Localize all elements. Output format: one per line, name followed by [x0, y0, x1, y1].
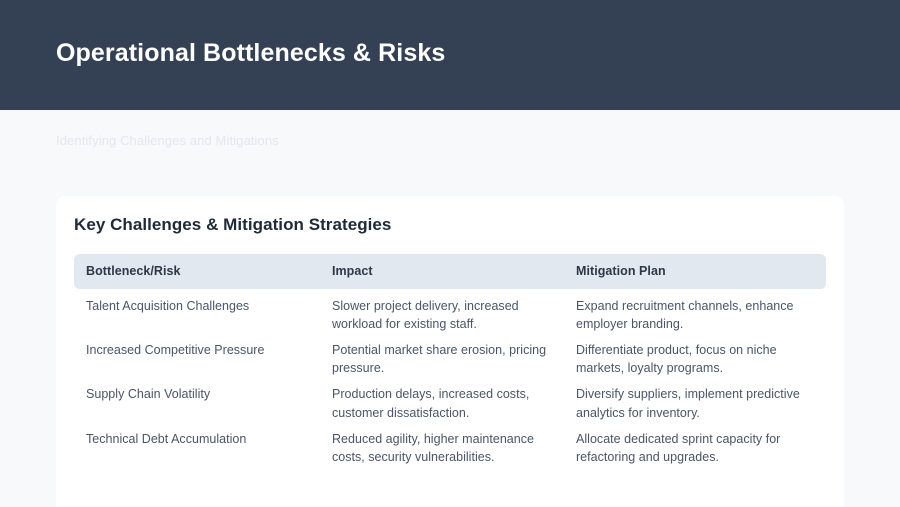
- page-subtitle: Identifying Challenges and Mitigations: [56, 132, 279, 150]
- cell-impact: Production delays, increased costs, cust…: [320, 379, 564, 423]
- table-row: Technical Debt Accumulation Reduced agil…: [74, 424, 826, 468]
- content-card: Key Challenges & Mitigation Strategies B…: [56, 196, 844, 507]
- cell-plan: Differentiate product, focus on niche ma…: [564, 335, 826, 379]
- column-header-mitigation-plan: Mitigation Plan: [564, 254, 826, 289]
- table-header: Bottleneck/Risk Impact Mitigation Plan: [74, 254, 826, 289]
- table-row: Supply Chain Volatility Production delay…: [74, 379, 826, 423]
- cell-plan: Allocate dedicated sprint capacity for r…: [564, 424, 826, 468]
- cell-impact: Slower project delivery, increased workl…: [320, 289, 564, 335]
- cell-impact: Potential market share erosion, pricing …: [320, 335, 564, 379]
- cell-plan: Diversify suppliers, implement predictiv…: [564, 379, 826, 423]
- column-header-bottleneck-risk: Bottleneck/Risk: [74, 254, 320, 289]
- challenges-table: Bottleneck/Risk Impact Mitigation Plan T…: [74, 254, 826, 468]
- cell-plan: Expand recruitment channels, enhance emp…: [564, 289, 826, 335]
- table-header-row: Bottleneck/Risk Impact Mitigation Plan: [74, 254, 826, 289]
- table-body: Talent Acquisition Challenges Slower pro…: [74, 289, 826, 468]
- cell-risk: Increased Competitive Pressure: [74, 335, 320, 379]
- cell-risk: Supply Chain Volatility: [74, 379, 320, 423]
- table-row: Talent Acquisition Challenges Slower pro…: [74, 289, 826, 335]
- cell-risk: Talent Acquisition Challenges: [74, 289, 320, 335]
- column-header-impact: Impact: [320, 254, 564, 289]
- card-title: Key Challenges & Mitigation Strategies: [74, 214, 391, 236]
- table-row: Increased Competitive Pressure Potential…: [74, 335, 826, 379]
- cell-impact: Reduced agility, higher maintenance cost…: [320, 424, 564, 468]
- slide-root: Operational Bottlenecks & Risks Identify…: [0, 0, 900, 507]
- header-band: Operational Bottlenecks & Risks: [0, 0, 900, 110]
- cell-risk: Technical Debt Accumulation: [74, 424, 320, 468]
- page-title: Operational Bottlenecks & Risks: [56, 38, 445, 68]
